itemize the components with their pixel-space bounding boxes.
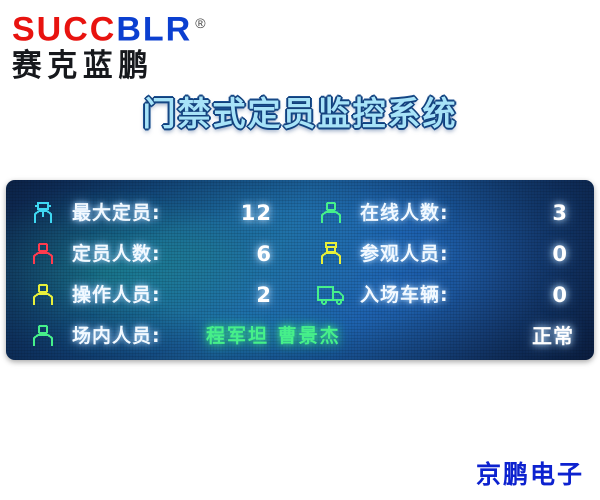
person-hat-icon	[28, 199, 58, 227]
led-row-online-count: 在线人数: 3	[298, 192, 594, 233]
led-label-online-count: 在线人数:	[360, 202, 449, 224]
led-label-quota-personnel: 定员人数:	[72, 243, 161, 265]
company-logo: SUCCBLR® 赛克蓝鹏	[8, 6, 258, 78]
led-row-quota-personnel: 定员人数: 6	[6, 233, 298, 274]
led-label-visitors: 参观人员:	[360, 243, 449, 265]
led-row-operators: 操作人员: 2	[6, 274, 298, 315]
registered-trademark-icon: ®	[195, 15, 207, 31]
led-label-operators: 操作人员:	[72, 284, 161, 306]
led-value-quota-personnel: 6	[256, 243, 298, 265]
person-icon	[316, 199, 346, 227]
person-icon	[28, 322, 58, 350]
led-row-vehicles: 入场车辆: 0	[298, 274, 594, 315]
logo-chinese-name: 赛克蓝鹏	[8, 49, 248, 83]
logo-wordmark: SUCCBLR®	[8, 6, 258, 46]
led-label-max-capacity: 最大定员:	[72, 202, 161, 224]
page-title: 门禁式定员监控系统	[0, 92, 600, 136]
led-row-onsite-names: 程军坦 曹景杰 正常	[298, 315, 594, 356]
led-value-visitors: 0	[552, 243, 594, 265]
logo-wordmark-blue: BLR	[116, 10, 192, 48]
person-icon	[28, 240, 58, 268]
led-row-visitors: 参观人员: 0	[298, 233, 594, 274]
led-value-online-count: 3	[552, 202, 594, 224]
truck-icon	[316, 281, 346, 309]
led-value-max-capacity: 12	[241, 202, 298, 224]
led-label-vehicles: 入场车辆:	[360, 284, 449, 306]
led-value-vehicles: 0	[552, 284, 594, 306]
led-display-grid: 最大定员: 12 在线人数: 3	[6, 180, 594, 360]
person-icon	[28, 281, 58, 309]
status-badge: 正常	[532, 325, 594, 347]
led-value-operators: 2	[256, 284, 298, 306]
led-onsite-name-list: 程军坦 曹景杰	[206, 325, 341, 347]
led-display-panel: 最大定员: 12 在线人数: 3	[6, 180, 594, 360]
footer-brand: 京鹏电子	[476, 460, 584, 490]
person-hat-icon	[316, 240, 346, 268]
led-row-max-capacity: 最大定员: 12	[6, 192, 298, 233]
led-label-onsite-personnel: 场内人员:	[72, 325, 161, 347]
logo-wordmark-red: SUCC	[12, 10, 116, 48]
